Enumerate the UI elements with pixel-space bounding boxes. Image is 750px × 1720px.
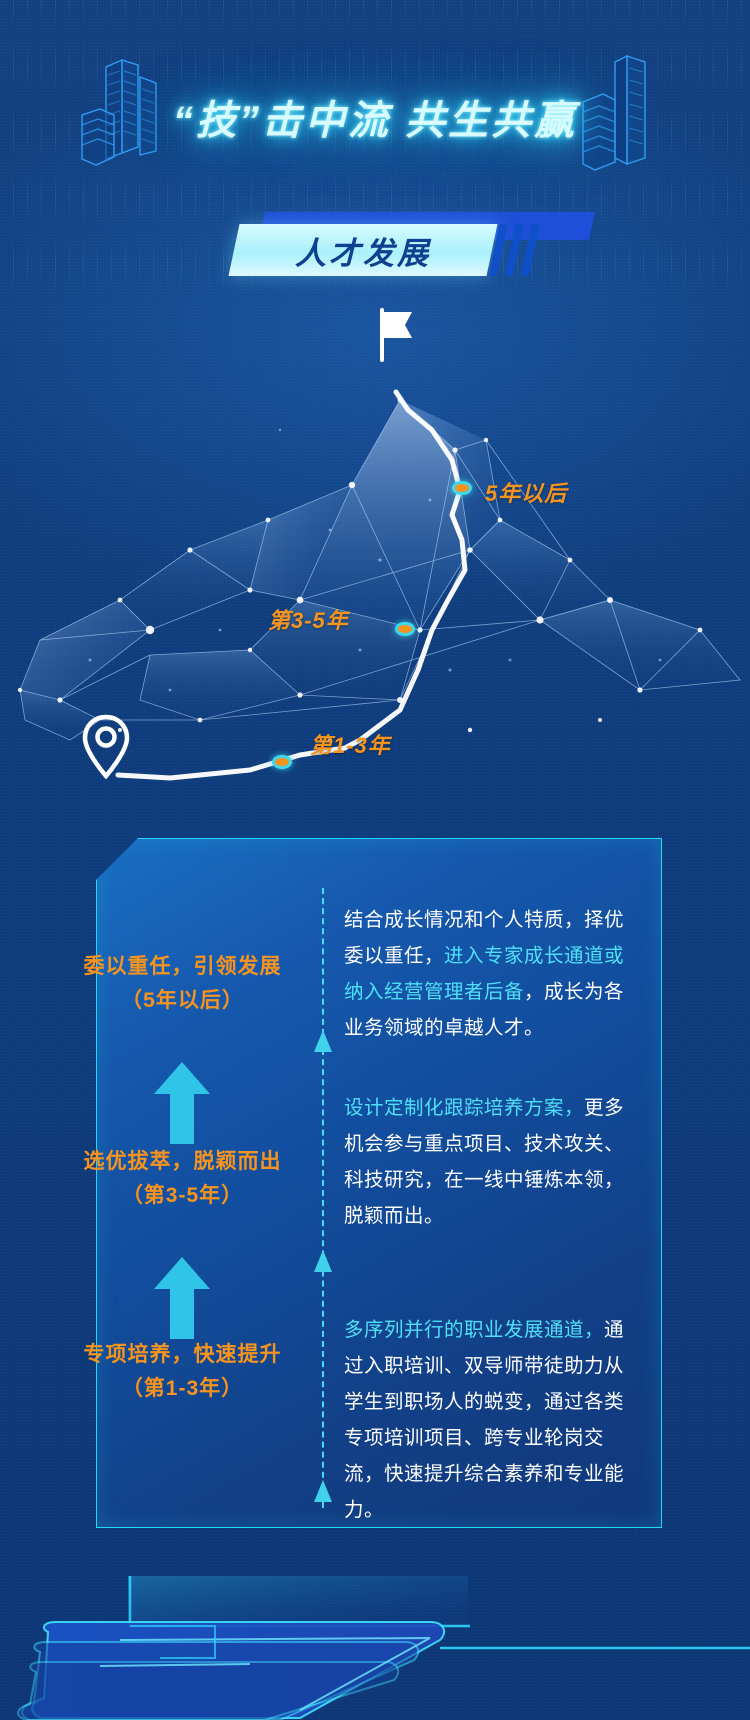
- paragraph-1-part-2: 通过入职培训、双导师带徒助力从学生到职场人的蜕变，通过各类专项培训项目、跨专业轮…: [344, 1319, 624, 1521]
- stage-heading-2-period: （第3-5年）: [60, 1179, 305, 1213]
- stage-paragraph-1: 多序列并行的职业发展通道，通过入职培训、双导师带徒助力从学生到职场人的蜕变，通过…: [344, 1312, 636, 1528]
- timeline-dashed-axis: [322, 888, 324, 1508]
- up-arrow-icon-bottom: [152, 1255, 212, 1341]
- stage-paragraph-3: 结合成长情况和个人特质，择优委以重任，进入专家成长通道或纳入经营管理者后备，成长…: [344, 902, 636, 1046]
- paragraph-1-part-1: 多序列并行的职业发展通道，: [344, 1319, 604, 1341]
- marker-stage-2[interactable]: [395, 622, 415, 636]
- stage-heading-3-period: （5年以后）: [60, 984, 305, 1018]
- stage-heading-3: 委以重任，引领发展 （5年以后）: [60, 950, 305, 1018]
- footer-ribbon-decoration: [0, 1570, 750, 1720]
- timeline-arrow-mid: [314, 1250, 332, 1272]
- stage-heading-3-title: 委以重任，引领发展: [60, 950, 305, 984]
- stage-heading-1-period: （第1-3年）: [60, 1372, 305, 1406]
- stage-heading-2: 选优拔萃，脱颖而出 （第3-5年）: [60, 1145, 305, 1213]
- stage-paragraph-2: 设计定制化跟踪培养方案，更多机会参与重点项目、技术攻关、科技研究，在一线中锤炼本…: [344, 1090, 636, 1234]
- banner-stripes-decoration: [488, 224, 550, 276]
- marker-stage-2-label: 第3-5年: [268, 603, 349, 635]
- page-title: “技”击中流 共生共赢: [173, 88, 577, 146]
- marker-stage-3[interactable]: [452, 481, 472, 495]
- section-banner-label: 人才发展: [234, 224, 492, 276]
- paragraph-2-part-1: 设计定制化跟踪培养方案，: [344, 1097, 584, 1119]
- stage-heading-1: 专项培养，快速提升 （第1-3年）: [60, 1338, 305, 1406]
- timeline-arrow-bottom: [314, 1480, 332, 1502]
- flag-icon: [376, 306, 422, 362]
- up-arrow-icon-top: [152, 1060, 212, 1146]
- location-pin-icon: [82, 712, 130, 782]
- marker-stage-1-label: 第1-3年: [310, 728, 391, 760]
- marker-stage-1[interactable]: [272, 755, 292, 769]
- marker-stage-3-label: 5年以后: [485, 476, 567, 508]
- timeline-arrow-top: [314, 1030, 332, 1052]
- stage-heading-2-title: 选优拔萃，脱颖而出: [60, 1145, 305, 1179]
- stage-heading-1-title: 专项培养，快速提升: [60, 1338, 305, 1372]
- header-title-wrap: “技”击中流 共生共赢: [0, 88, 750, 146]
